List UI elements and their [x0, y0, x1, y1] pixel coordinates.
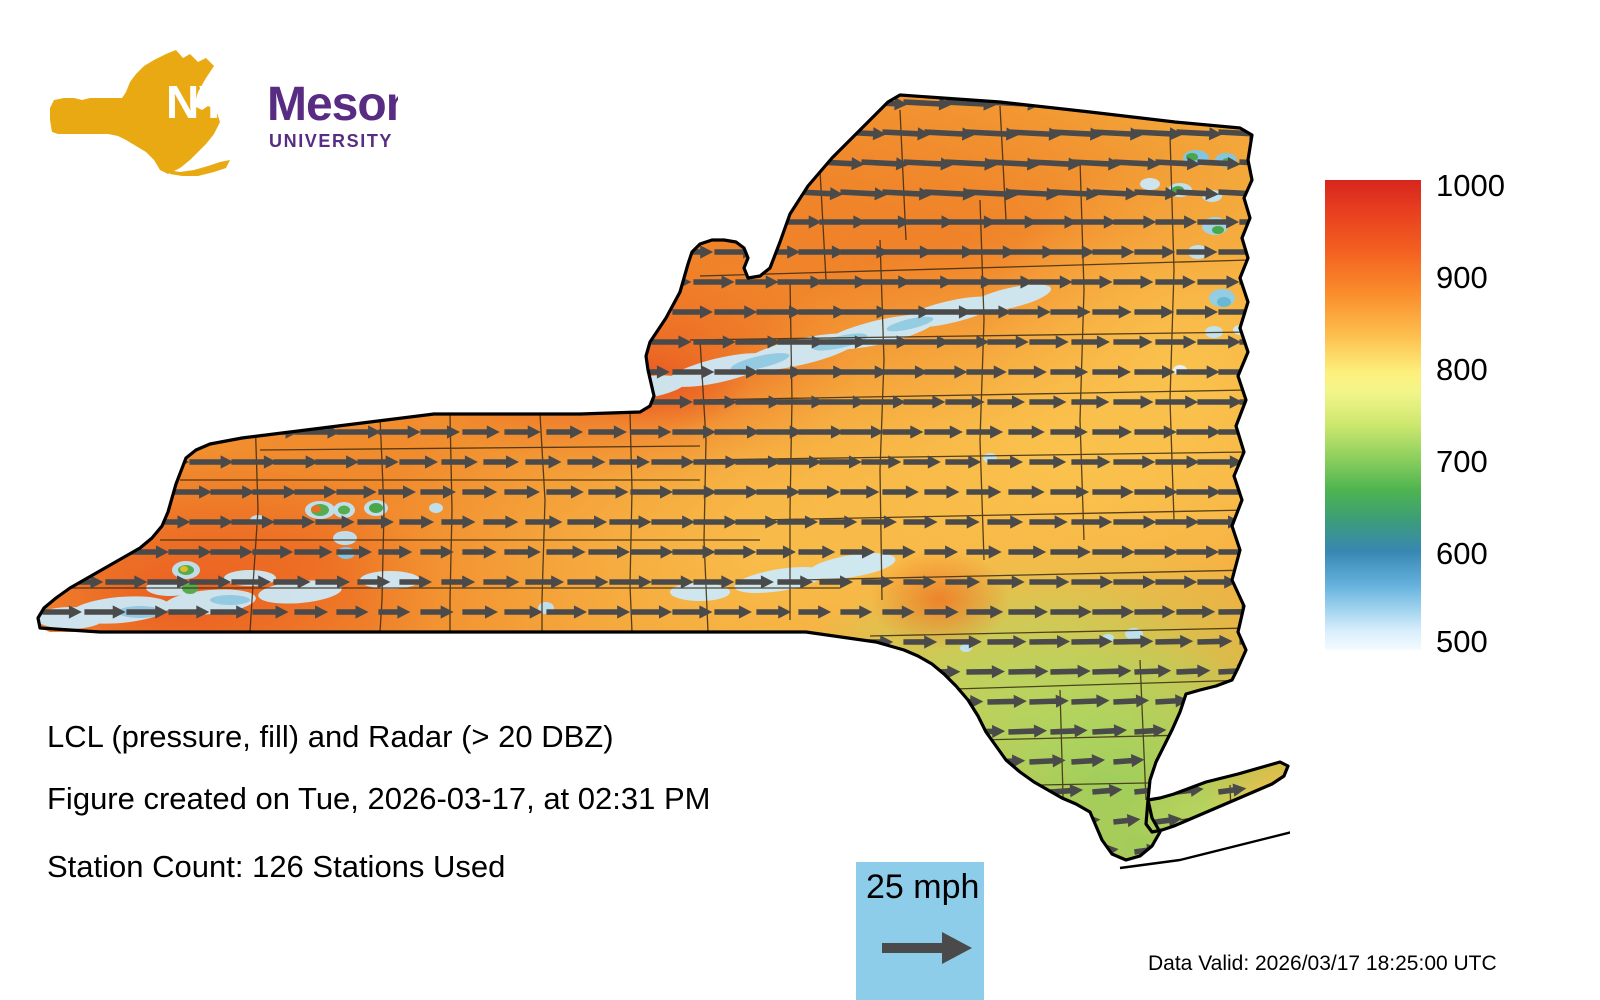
wind-vector-arrow: [1113, 872, 1140, 888]
wind-vector-arrow: [1281, 455, 1290, 468]
wind-vector-arrow: [756, 725, 785, 738]
wind-vector-arrow: [567, 815, 597, 828]
wind-vector-arrow: [84, 665, 124, 678]
wind-vector-arrow: [189, 275, 229, 288]
wind-vector-arrow: [567, 155, 619, 171]
wind-vector-arrow: [672, 125, 720, 141]
wind-vector-arrow: [525, 335, 565, 348]
wind-vector-arrow: [945, 814, 981, 828]
wind-vector-arrow: [84, 185, 134, 201]
wind-vector-arrow: [252, 125, 297, 140]
wind-vector-arrow: [1260, 664, 1290, 679]
wind-vector-arrow: [126, 125, 178, 141]
wind-vector-arrow: [609, 155, 658, 171]
wind-vector-arrow: [609, 395, 648, 408]
wind-vector-arrow: [525, 395, 562, 408]
wind-vector-arrow: [42, 545, 80, 558]
wind-vector-arrow: [1259, 839, 1290, 858]
wind-vector-arrow: [672, 185, 716, 200]
wind-vector-arrow: [147, 395, 187, 408]
wind-vector-arrow: [777, 875, 810, 888]
wind-vector-arrow: [630, 845, 656, 858]
colorbar-gradient: [1325, 180, 1421, 650]
wind-vector-arrow: [546, 245, 592, 258]
wind-vector-arrow: [357, 215, 405, 228]
wind-vector-arrow: [588, 905, 612, 918]
wind-vector-arrow: [126, 905, 151, 918]
wind-vector-arrow: [1008, 843, 1039, 858]
wind-vector-arrow: [693, 635, 729, 648]
wind-vector-arrow: [21, 575, 58, 588]
wind-vector-arrow: [105, 455, 144, 468]
wind-vector-arrow: [756, 905, 788, 918]
wind-vector-arrow: [105, 275, 146, 288]
wind-vector-arrow: [483, 695, 522, 708]
wind-vector-arrow: [1260, 425, 1290, 438]
colorbar-tick-700: 700: [1436, 446, 1488, 477]
wind-vector-arrow: [819, 875, 854, 888]
wind-vector-arrow: [378, 245, 428, 258]
wind-vector-arrow: [189, 395, 232, 408]
wind-vector-arrow: [147, 215, 190, 228]
wind-vector-arrow: [315, 635, 346, 648]
wind-vector-arrow: [315, 395, 362, 408]
wind-vector-arrow: [210, 185, 253, 200]
wind-vector-arrow: [441, 335, 486, 348]
wind-vector-arrow: [462, 245, 512, 258]
wind-vector-arrow: [1239, 455, 1284, 468]
wind-vector-arrow: [336, 125, 381, 141]
wind-vector-arrow: [630, 185, 676, 201]
wind-vector-arrow: [210, 125, 257, 141]
wind-vector-arrow: [105, 335, 144, 348]
wind-vector-arrow: [231, 815, 259, 828]
wind-vector-arrow: [378, 365, 425, 378]
wind-vector-arrow: [1197, 753, 1226, 769]
wind-vector-arrow: [168, 905, 194, 918]
wind-vector-arrow: [546, 845, 575, 858]
wind-vector-arrow: [21, 695, 60, 708]
wind-vector-arrow: [1155, 95, 1205, 111]
wind-vector-arrow: [504, 905, 531, 918]
wind-vector-arrow: [840, 725, 872, 738]
wind-vector-arrow: [483, 95, 536, 111]
wind-vector-arrow: [210, 905, 238, 918]
wind-vector-arrow: [21, 515, 57, 528]
wind-vector-arrow: [168, 305, 208, 318]
wind-vector-arrow: [609, 635, 650, 648]
wind-vector-arrow: [693, 875, 720, 888]
wind-vector-arrow: [315, 335, 363, 348]
wind-vector-arrow: [609, 275, 649, 288]
wind-vector-arrow: [1238, 869, 1271, 888]
wind-vector-arrow: [252, 365, 298, 378]
wind-vector-arrow: [735, 155, 779, 170]
wind-vector-arrow: [630, 125, 680, 141]
wind-vector-arrow: [168, 365, 209, 378]
wind-vector-arrow: [1196, 870, 1227, 888]
wind-vector-arrow: [189, 815, 216, 828]
wind-vector-arrow: [336, 245, 384, 258]
wind-vector-arrow: [1281, 335, 1290, 348]
wind-vector-arrow: [567, 335, 606, 348]
wind-vector-arrow: [42, 365, 80, 378]
wind-vector-arrow: [462, 365, 504, 378]
wind-vector-arrow: [588, 365, 626, 378]
wind-vector-arrow: [1239, 95, 1285, 111]
wind-vector-arrow: [693, 95, 742, 111]
wind-vector-arrow: [567, 395, 604, 408]
wind-vector-arrow: [1259, 898, 1290, 919]
wind-vector-arrow: [42, 425, 78, 438]
wind-vector-arrow: [840, 785, 874, 798]
wind-vector-arrow: [1281, 95, 1290, 111]
wind-vector-arrow: [1239, 693, 1270, 708]
colorbar-tick-1000: 1000: [1436, 170, 1505, 201]
wind-vector-arrow: [441, 395, 482, 408]
wind-vector-arrow: [735, 95, 781, 111]
wind-vector-arrow: [525, 215, 574, 228]
wind-vector-arrow: [294, 905, 327, 918]
wind-vector-arrow: [756, 185, 800, 200]
wind-vector-arrow: [378, 185, 427, 201]
wind-vector-arrow: [84, 485, 123, 498]
wind-vector-arrow: [42, 125, 96, 141]
wind-vector-arrow: [231, 95, 278, 111]
wind-vector-arrow: [1281, 693, 1290, 709]
wind-vector-arrow: [588, 845, 615, 858]
wind-vector-arrow: [21, 95, 75, 111]
wind-vector-arrow: [231, 695, 262, 708]
wind-vector-arrow: [273, 275, 318, 288]
wind-vector-arrow: [126, 425, 166, 438]
wind-vector-arrow: [315, 275, 362, 288]
wind-vector-arrow: [462, 305, 508, 318]
wind-vector-arrow: [735, 695, 765, 708]
wind-vector-arrow: [651, 215, 693, 228]
wind-vector-arrow: [357, 155, 404, 171]
wind-vector-arrow: [1197, 95, 1245, 111]
wind-vector-arrow: [588, 185, 636, 201]
wind-vector-arrow: [147, 635, 187, 648]
wind-vector-arrow: [1239, 575, 1276, 588]
wind-vector-arrow: [315, 215, 361, 228]
wind-vector-arrow: [903, 815, 940, 829]
wind-vector-arrow: [567, 755, 602, 768]
wind-vector-arrow: [336, 185, 383, 201]
wind-vector-arrow: [1281, 275, 1290, 288]
wind-vector-arrow: [63, 335, 102, 348]
wind-vector-arrow: [420, 245, 471, 258]
wind-vector-arrow: [147, 95, 200, 111]
wind-vector-arrow: [105, 515, 146, 528]
wind-vector-arrow: [525, 155, 578, 171]
wind-vector-arrow: [798, 665, 828, 678]
wind-vector-arrow: [861, 755, 896, 768]
wind-vector-arrow: [252, 305, 296, 318]
wind-vector-arrow: [63, 515, 101, 528]
wind-vector-arrow: [777, 755, 807, 768]
wind-vector-arrow: [252, 905, 283, 918]
wind-vector-arrow: [987, 874, 1017, 889]
wind-vector-arrow: [399, 215, 449, 228]
wind-vector-arrow: [819, 755, 851, 768]
wind-vector-arrow: [672, 905, 699, 918]
wind-vector-arrow: [546, 665, 586, 678]
wind-vector-arrow: [147, 695, 183, 708]
wind-vector-arrow: [252, 185, 295, 200]
wind-vector-arrow: [441, 215, 492, 228]
figure-created-caption: Figure created on Tue, 2026-03-17, at 02…: [47, 783, 710, 814]
wind-vector-arrow: [483, 215, 534, 228]
wind-vector-arrow: [336, 905, 370, 918]
wind-vector-arrow: [168, 665, 205, 678]
wind-vector-arrow: [798, 905, 832, 918]
wind-vector-arrow: [420, 365, 464, 378]
wind-vector-arrow: [714, 185, 757, 200]
wind-vector-arrow: [924, 785, 962, 799]
wind-vector-arrow: [21, 815, 55, 828]
wind-vector-arrow: [189, 215, 231, 228]
wind-vector-arrow: [189, 95, 239, 111]
wind-vector-arrow: [630, 725, 663, 738]
wind-vector-arrow: [1092, 902, 1118, 918]
wind-vector-arrow: [63, 215, 111, 228]
wind-vector-arrow: [1029, 873, 1057, 888]
wind-vector-arrow: [525, 95, 580, 111]
wind-vector-arrow: [105, 95, 160, 111]
wind-vector-arrow: [1281, 515, 1290, 528]
wind-vector-arrow: [105, 695, 143, 708]
wind-vector-arrow: [21, 275, 67, 288]
wind-vector-arrow: [630, 905, 655, 918]
wind-vector-arrow: [483, 335, 526, 348]
wind-vector-arrow: [84, 365, 122, 378]
wind-vector-arrow: [63, 755, 99, 768]
wind-vector-arrow: [252, 665, 284, 678]
colorbar-tick-900: 900: [1436, 262, 1488, 293]
wind-vector-arrow: [882, 725, 917, 738]
wind-vector-arrow: [1260, 365, 1290, 378]
wind-vector-arrow: [399, 155, 449, 171]
wind-vector-arrow: [483, 755, 521, 768]
wind-vector-arrow: [168, 185, 213, 200]
wind-vector-arrow: [105, 155, 156, 171]
wind-vector-arrow: [1029, 813, 1062, 828]
wind-vector-arrow: [84, 245, 128, 258]
wind-vector-arrow: [567, 275, 609, 288]
wind-vector-arrow: [693, 815, 720, 828]
wind-vector-arrow: [63, 395, 100, 408]
wind-vector-arrow: [777, 95, 822, 111]
wind-vector-arrow: [924, 725, 962, 739]
wind-vector-arrow: [168, 245, 209, 258]
wind-vector-arrow: [441, 95, 492, 111]
wind-vector-arrow: [399, 635, 432, 648]
wind-vector-arrow: [714, 665, 747, 678]
wind-vector-arrow: [588, 305, 628, 318]
wind-vector-arrow: [399, 755, 435, 768]
wind-vector-arrow: [357, 815, 392, 828]
wind-vector-arrow: [567, 215, 614, 228]
wind-vector-arrow: [63, 95, 118, 111]
weather-map-figure: NYS Mesonet UNIVERSITY AT ALBANY: [0, 0, 1600, 1000]
wind-vector-arrow: [777, 155, 821, 170]
wind-vector-arrow: [1281, 215, 1290, 228]
wind-vector-arrow: [273, 395, 320, 408]
wind-vector-arrow: [714, 125, 760, 141]
wind-vector-arrow: [483, 395, 521, 408]
wind-vector-arrow: [63, 635, 104, 648]
wind-speed-legend: 25 mph: [856, 862, 984, 1000]
wind-vector-arrow: [714, 845, 742, 858]
wind-vector-arrow: [84, 125, 138, 141]
wind-vector-arrow: [945, 755, 983, 769]
wind-vector-arrow: [672, 725, 703, 738]
wind-vector-arrow: [567, 95, 622, 111]
wind-vector-arrow: [1280, 810, 1290, 829]
wind-vector-arrow: [840, 665, 871, 678]
wind-vector-arrow: [399, 695, 433, 708]
wind-vector-arrow: [1281, 395, 1290, 408]
wind-vector-arrow: [42, 485, 78, 498]
wind-vector-arrow: [63, 455, 100, 468]
wind-vector-arrow: [357, 755, 390, 768]
wind-vector-arrow: [1154, 871, 1182, 888]
colorbar-tick-500: 500: [1436, 626, 1488, 657]
wind-vector-arrow: [819, 815, 853, 828]
wind-vector-arrow: [861, 695, 894, 708]
wind-vector-arrow: [693, 155, 738, 170]
wind-vector-arrow: [1238, 811, 1269, 829]
wind-vector-arrow: [546, 365, 584, 378]
wind-vector-arrow: [504, 185, 557, 201]
wind-vector-arrow: [1260, 305, 1290, 318]
wind-vector-arrow: [1197, 693, 1229, 708]
wind-vector-arrow: [147, 755, 178, 768]
wind-vector-arrow: [735, 875, 765, 888]
wind-legend-arrow-icon: [880, 928, 976, 968]
wind-vector-arrow: [147, 815, 174, 828]
wind-vector-arrow: [882, 785, 918, 798]
wind-vector-arrow: [609, 335, 648, 348]
wind-vector-arrow: [21, 395, 59, 408]
wind-vector-arrow: [756, 125, 800, 140]
wind-vector-arrow: [798, 125, 843, 140]
wind-vector-arrow: [189, 755, 218, 768]
wind-vector-arrow: [42, 905, 68, 918]
wind-vector-arrow: [630, 305, 669, 318]
wind-vector-arrow: [651, 155, 698, 171]
wind-vector-arrow: [1281, 634, 1290, 648]
wind-vector-arrow: [819, 95, 864, 111]
wind-vector-arrow: [42, 305, 84, 318]
wind-vector-arrow: [1260, 722, 1290, 738]
wind-vector-arrow: [21, 635, 60, 648]
wind-vector-arrow: [987, 814, 1022, 829]
wind-vector-arrow: [84, 545, 125, 558]
wind-vector-arrow: [147, 155, 195, 171]
wind-vector-arrow: [735, 635, 769, 648]
wind-vector-arrow: [693, 695, 725, 708]
wind-vector-arrow: [525, 875, 553, 888]
wind-vector-arrow: [210, 245, 251, 258]
wind-vector-arrow: [504, 305, 548, 318]
wind-vector-arrow: [462, 665, 499, 678]
wind-vector-arrow: [798, 785, 829, 798]
wind-vector-arrow: [315, 95, 360, 111]
wind-vector-arrow: [336, 665, 367, 678]
wind-vector-arrow: [105, 755, 139, 768]
wind-vector-arrow: [294, 365, 341, 378]
wind-vector-arrow: [861, 815, 897, 828]
wind-vector-arrow: [1260, 185, 1290, 200]
wind-vector-arrow: [294, 305, 341, 318]
wind-vector-arrow: [126, 485, 167, 498]
wind-vector-arrow: [546, 905, 571, 918]
wind-vector-arrow: [546, 185, 597, 201]
wind-vector-arrow: [420, 125, 470, 141]
wind-vector-arrow: [483, 635, 521, 648]
wind-vector-arrow: [588, 245, 631, 258]
wind-vector-arrow: [273, 215, 316, 228]
wind-vector-arrow: [168, 425, 210, 438]
wind-vector-arrow: [126, 365, 165, 378]
wind-vector-arrow: [126, 665, 165, 678]
wind-vector-arrow: [567, 635, 608, 648]
wind-vector-arrow: [651, 635, 690, 648]
station-count-caption: Station Count: 126 Stations Used: [47, 851, 505, 882]
wind-vector-arrow: [84, 425, 121, 438]
wind-vector-arrow: [1217, 899, 1250, 918]
wind-vector-arrow: [231, 635, 266, 648]
lcl-pressure-colorbar: [1325, 180, 1421, 650]
wind-vector-arrow: [588, 665, 628, 678]
wind-vector-arrow: [462, 125, 515, 141]
wind-vector-arrow: [420, 665, 455, 678]
wind-vector-arrow: [441, 695, 478, 708]
wind-vector-arrow: [882, 665, 915, 678]
wind-vector-arrow: [1260, 485, 1290, 498]
wind-vector-arrow: [147, 335, 186, 348]
wind-vector-arrow: [1113, 95, 1166, 111]
wind-vector-arrow: [525, 815, 558, 828]
wind-vector-arrow: [399, 395, 442, 408]
wind-vector-arrow: [378, 305, 427, 318]
wind-vector-arrow: [189, 695, 222, 708]
wind-vector-arrow: [126, 305, 165, 318]
wind-vector-arrow: [378, 665, 410, 678]
wind-vector-arrow: [1260, 125, 1290, 140]
wind-vector-arrow: [651, 875, 677, 888]
wind-vector-arrow: [105, 815, 134, 828]
wind-vector-arrow: [903, 755, 940, 768]
wind-vector-arrow: [567, 695, 606, 708]
wind-vector-arrow: [693, 215, 735, 228]
wind-vector-arrow: [1071, 95, 1126, 111]
wind-vector-arrow: [210, 665, 244, 678]
wind-vector-arrow: [315, 695, 345, 708]
wind-vector-arrow: [588, 125, 641, 141]
wind-vector-arrow: [1176, 723, 1207, 739]
wind-vector-arrow: [273, 335, 319, 348]
wind-vector-arrow: [483, 155, 536, 171]
wind-vector-arrow: [126, 185, 173, 201]
wind-vector-arrow: [903, 695, 939, 708]
wind-vector-arrow: [399, 335, 446, 348]
wind-vector-arrow: [63, 155, 116, 171]
wind-vector-arrow: [1281, 155, 1290, 170]
